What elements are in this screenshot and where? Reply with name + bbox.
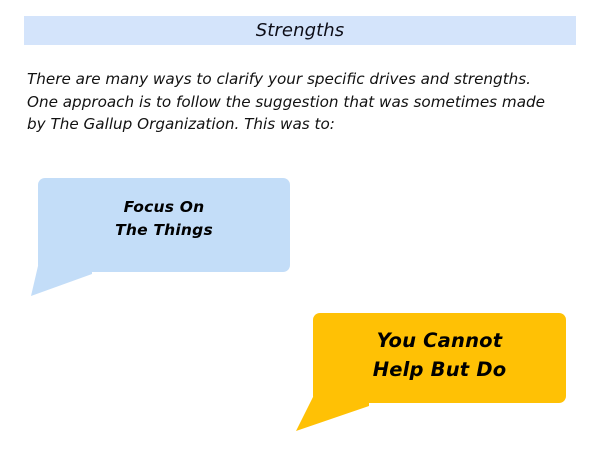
speech-bubble-blue: Focus On The Things (38, 178, 290, 272)
slide-canvas: Strengths There are many ways to clarify… (0, 0, 600, 450)
speech-bubble-orange-text: You Cannot Help But Do (373, 326, 507, 384)
body-paragraph: There are many ways to clarify your spec… (27, 68, 547, 136)
speech-bubble-blue-body: Focus On The Things (38, 178, 290, 272)
speech-bubble-orange: You Cannot Help But Do (313, 313, 566, 403)
speech-bubble-orange-body: You Cannot Help But Do (313, 313, 566, 403)
slide-title-band: Strengths (24, 16, 576, 45)
speech-bubble-blue-text: Focus On The Things (115, 196, 213, 242)
page-title: Strengths (256, 22, 345, 40)
